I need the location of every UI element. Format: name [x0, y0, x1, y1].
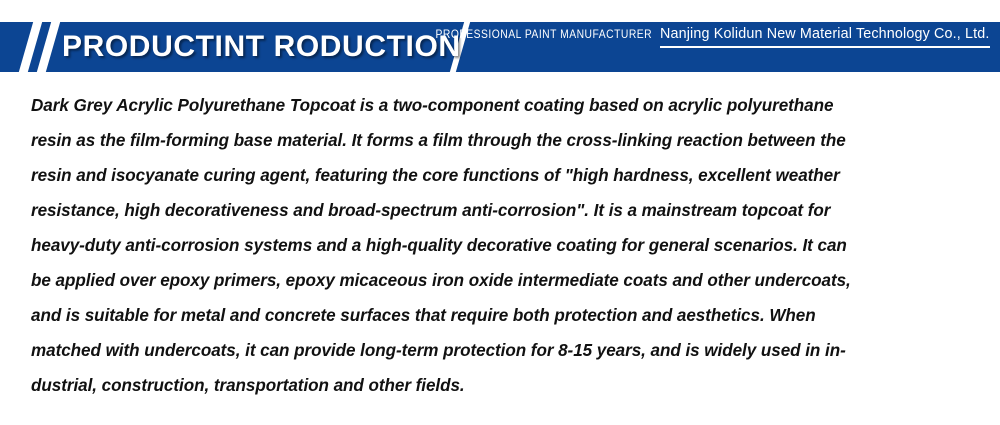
manufacturer-block: PROFESSIONAL PAINT MANUFACTURER Nanjing … [411, 24, 990, 48]
paragraph-line: resin as the film-forming base material.… [31, 123, 846, 158]
company-name: Nanjing Kolidun New Material Technology … [660, 24, 990, 48]
product-description-paragraph: Dark Grey Acrylic Polyurethane Topcoat i… [31, 88, 951, 403]
paragraph-line: heavy-duty anti-corrosion systems and a … [31, 228, 847, 263]
paragraph-line: and is suitable for metal and concrete s… [31, 298, 816, 333]
header-banner: PRODUCTINT RODUCTION PROFESSIONAL PAINT … [0, 22, 1000, 72]
manufacturer-tagline: PROFESSIONAL PAINT MANUFACTURER [435, 27, 652, 43]
paragraph-line: be applied over epoxy primers, epoxy mic… [31, 263, 851, 298]
product-introduction-page: PRODUCTINT RODUCTION PROFESSIONAL PAINT … [0, 0, 1000, 425]
paragraph-line: dustrial, construction, transportation a… [31, 368, 465, 403]
paragraph-line: resistance, high decorativeness and broa… [31, 193, 830, 228]
paragraph-line: Dark Grey Acrylic Polyurethane Topcoat i… [31, 88, 833, 123]
paragraph-line: matched with undercoats, it can provide … [31, 333, 846, 368]
page-title: PRODUCTINT RODUCTION [62, 22, 461, 72]
paragraph-line: resin and isocyanate curing agent, featu… [31, 158, 840, 193]
